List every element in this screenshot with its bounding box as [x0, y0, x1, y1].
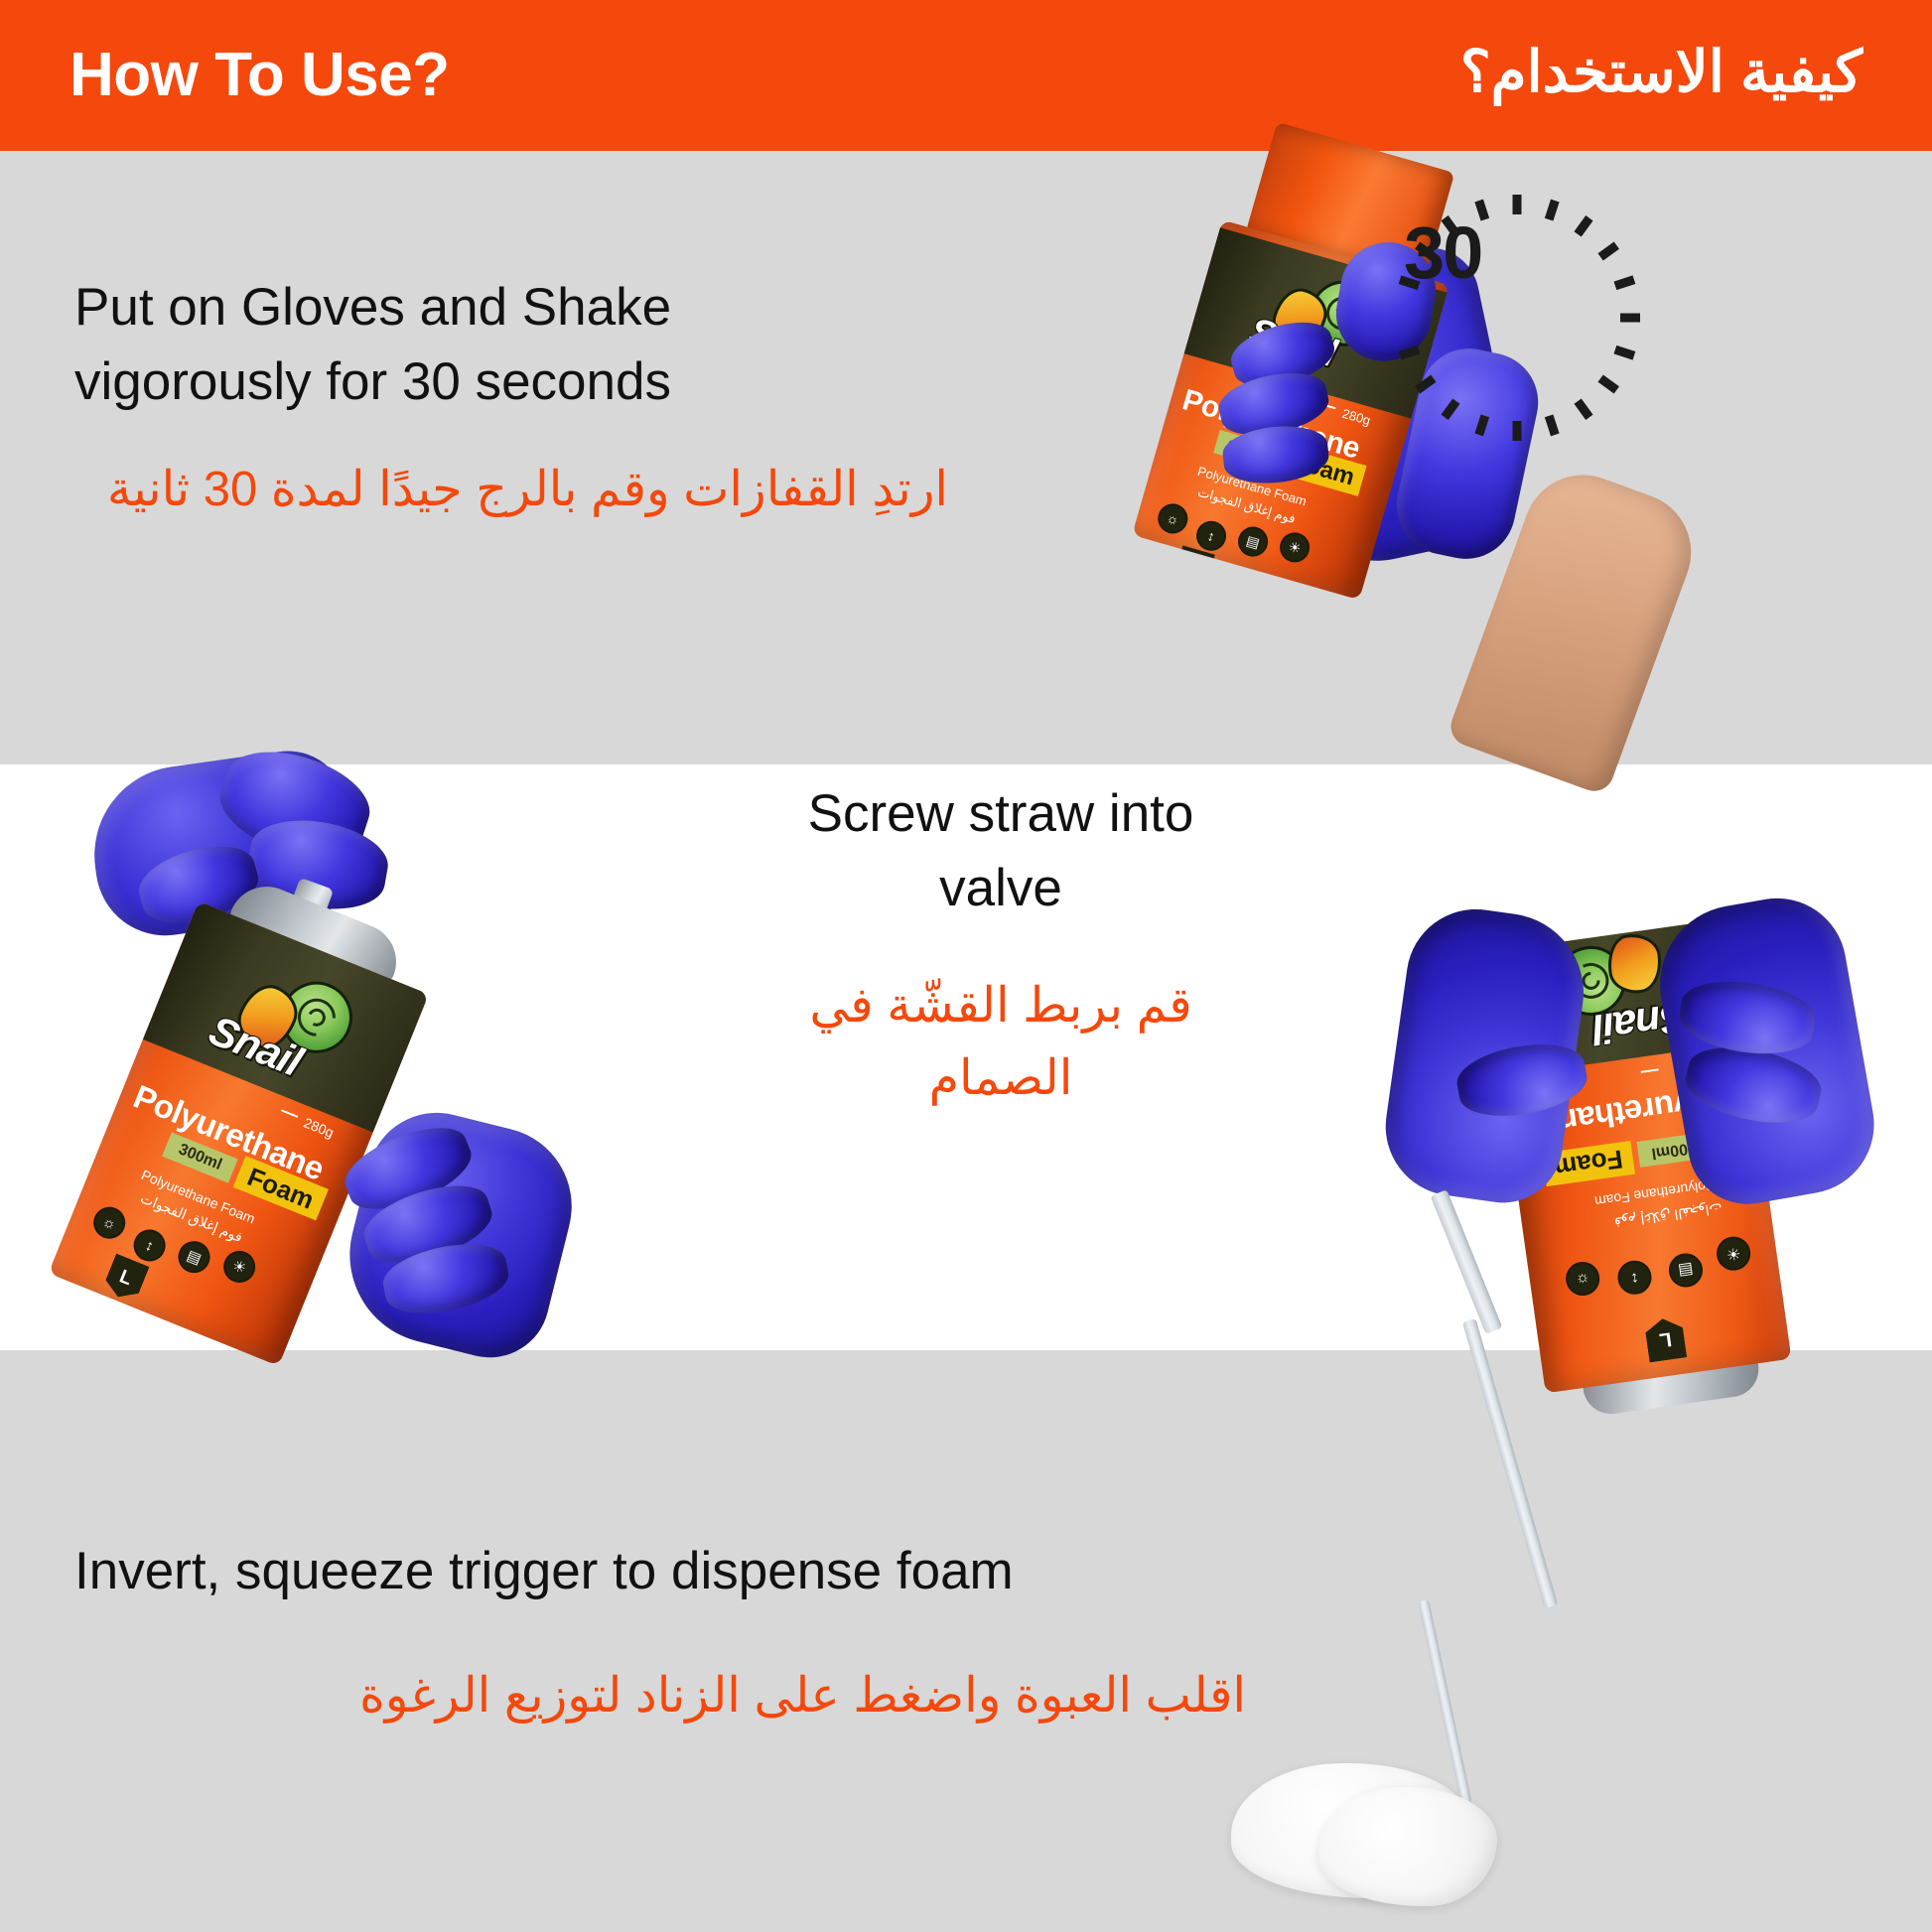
step-1-english: Put on Gloves and Shake vigorously for 3… — [74, 270, 948, 420]
uv-resistance-icon-2: ☀ — [218, 1246, 260, 1288]
grade-badge: L — [1173, 545, 1215, 591]
infographic-page: How To Use? كيفية الاستخدام؟ — [0, 0, 1932, 1932]
stopwatch-icon: 30 — [1438, 187, 1596, 345]
step-1-arabic: ارتدِ القفازات وقم بالرج جيدًا لمدة 30 ث… — [74, 454, 948, 527]
step-3-arabic: اقلب العبوة واضغط على الزناد لتوزيع الرغ… — [74, 1660, 1246, 1733]
indoor-outdoor-icon: ☼ — [1155, 500, 1191, 537]
step-2-english: Screw straw into valve — [743, 776, 1259, 926]
indoor-outdoor-icon-2: ☼ — [88, 1202, 130, 1244]
permanent-seal-icon: ▤ — [1235, 523, 1272, 560]
flexibility-icon: ↕ — [1192, 517, 1229, 554]
page-title-arabic: كيفية الاستخدام؟ — [1460, 38, 1863, 113]
step-3-dispensing — [1291, 1132, 1932, 1932]
grade-badge-2: L — [101, 1254, 149, 1305]
dispensed-foam-2 — [1318, 1787, 1497, 1906]
weight-dash-3 — [1641, 1068, 1659, 1072]
permanent-seal-icon-2: ▤ — [174, 1236, 215, 1278]
step-2-text: Screw straw into valve قم بربط القشّة في… — [743, 776, 1259, 1116]
step-3-text: Invert, squeeze trigger to dispense foam… — [74, 1534, 1246, 1733]
dispensing-straw-lower — [1462, 1318, 1558, 1608]
step-3-english: Invert, squeeze trigger to dispense foam — [74, 1534, 1246, 1608]
step-1-text: Put on Gloves and Shake vigorously for 3… — [74, 270, 948, 526]
step-2-arabic: قم بربط القشّة في الصمام — [743, 970, 1259, 1116]
uv-resistance-icon: ☀ — [1277, 529, 1313, 566]
can-weight-2: 280g — [302, 1114, 337, 1141]
weight-dash-2 — [281, 1109, 298, 1118]
page-title-english: How To Use? — [69, 45, 450, 106]
dispensing-straw-upper — [1431, 1189, 1503, 1334]
dispensing-straw-tip — [1418, 1599, 1471, 1806]
flexibility-icon-2: ↕ — [129, 1225, 171, 1267]
step-2-photo-left: Snail 280g Polyurethane 300ml Foam Polyu… — [109, 766, 725, 1350]
can-weight: 280g — [1340, 406, 1372, 428]
page-header: How To Use? كيفية الاستخدام؟ — [0, 0, 1932, 151]
